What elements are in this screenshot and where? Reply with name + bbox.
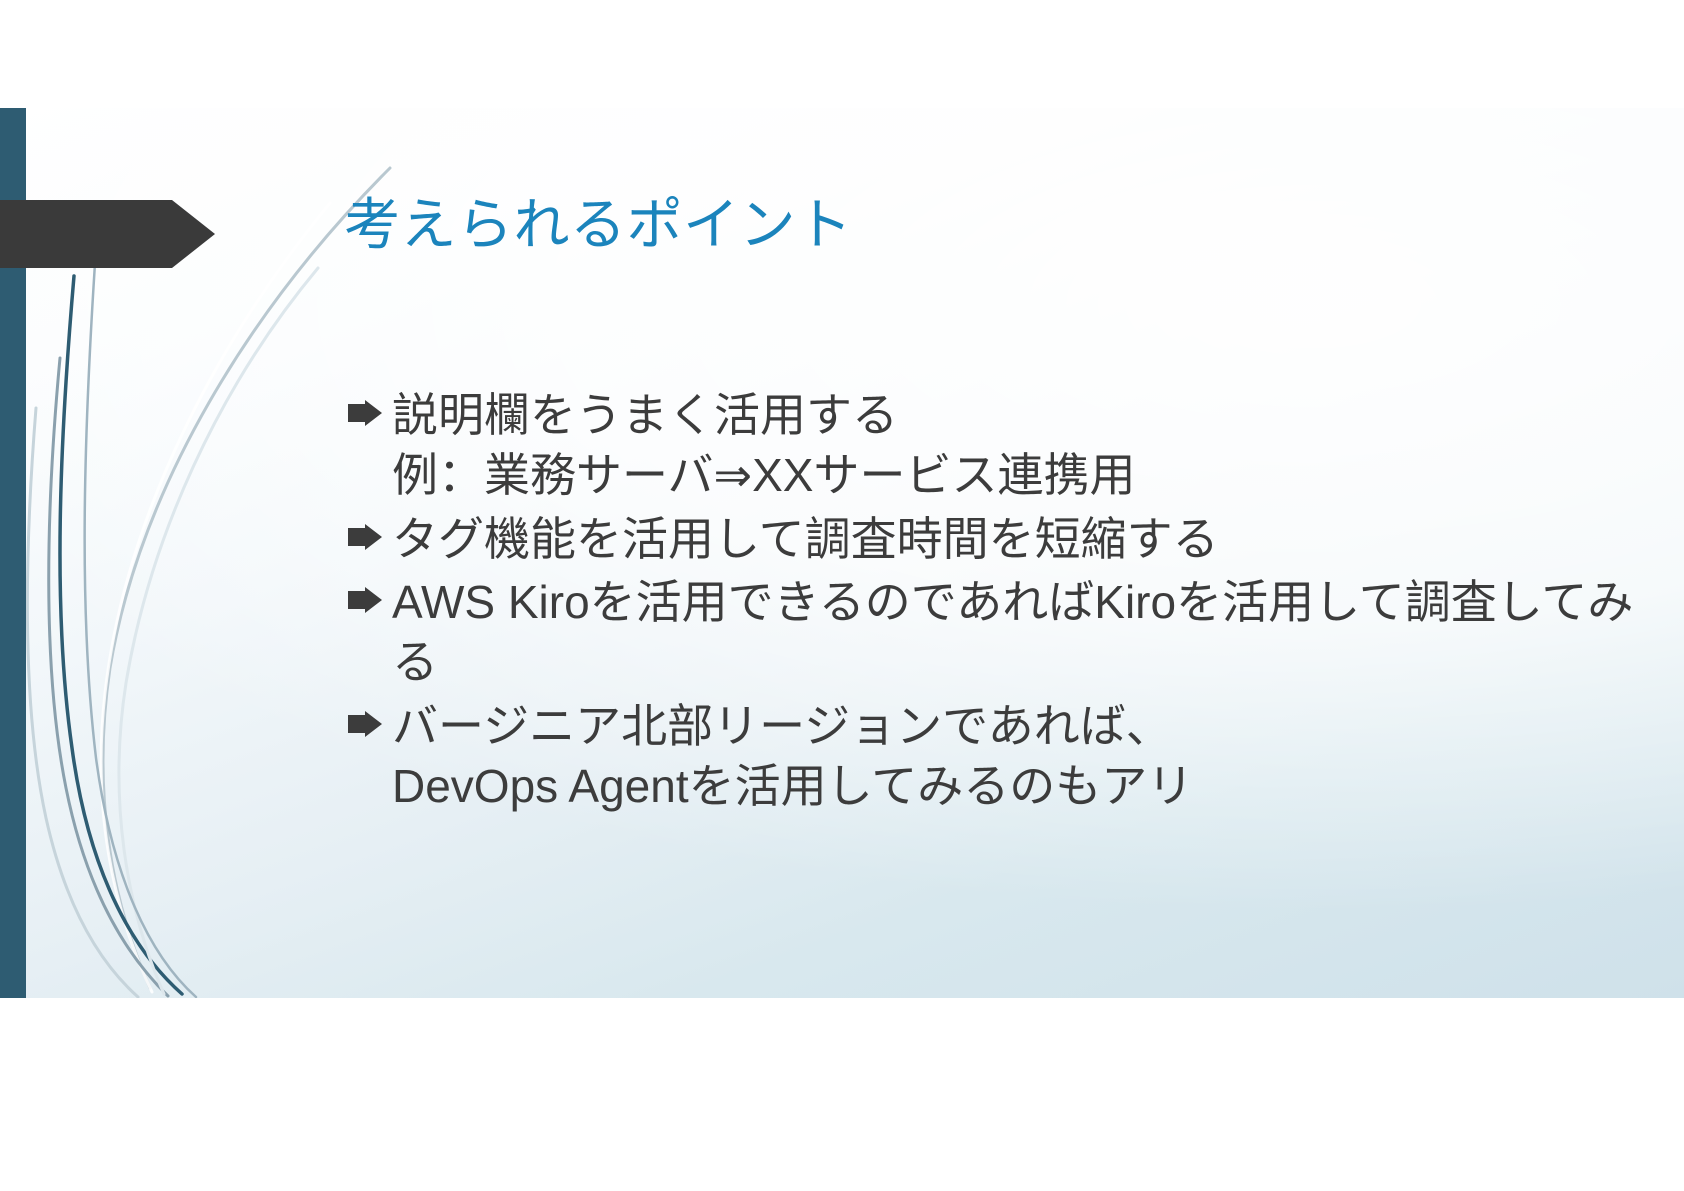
arrow-banner-icon (0, 200, 215, 268)
list-item-text: タグ機能を活用して調査時間を短縮する (392, 510, 1648, 570)
list-item-text: 説明欄をうまく活用する 例：業務サーバ⇒XXサービス連携用 (392, 386, 1648, 506)
list-item: 説明欄をうまく活用する 例：業務サーバ⇒XXサービス連携用 (348, 386, 1648, 506)
arrow-bullet-icon (348, 697, 392, 737)
list-item-text: AWS Kiroを活用できるのであればKiroを活用して調査してみる (392, 573, 1648, 693)
list-item: AWS Kiroを活用できるのであればKiroを活用して調査してみる (348, 573, 1648, 693)
list-item: タグ機能を活用して調査時間を短縮する (348, 510, 1648, 570)
slide-title: 考えられるポイント (344, 192, 1524, 258)
list-item-text: バージニア北部リージョンであれば、 DevOps Agentを活用してみるのもア… (392, 697, 1648, 817)
arrow-bullet-icon (348, 510, 392, 550)
arrow-bullet-icon (348, 386, 392, 426)
bullet-list: 説明欄をうまく活用する 例：業務サーバ⇒XXサービス連携用 タグ機能を活用して調… (348, 386, 1648, 821)
presentation-slide: 考えられるポイント 説明欄をうまく活用する 例：業務サーバ⇒XXサービス連携用 … (0, 0, 1684, 1191)
list-item: バージニア北部リージョンであれば、 DevOps Agentを活用してみるのもア… (348, 697, 1648, 817)
arrow-bullet-icon (348, 573, 392, 613)
